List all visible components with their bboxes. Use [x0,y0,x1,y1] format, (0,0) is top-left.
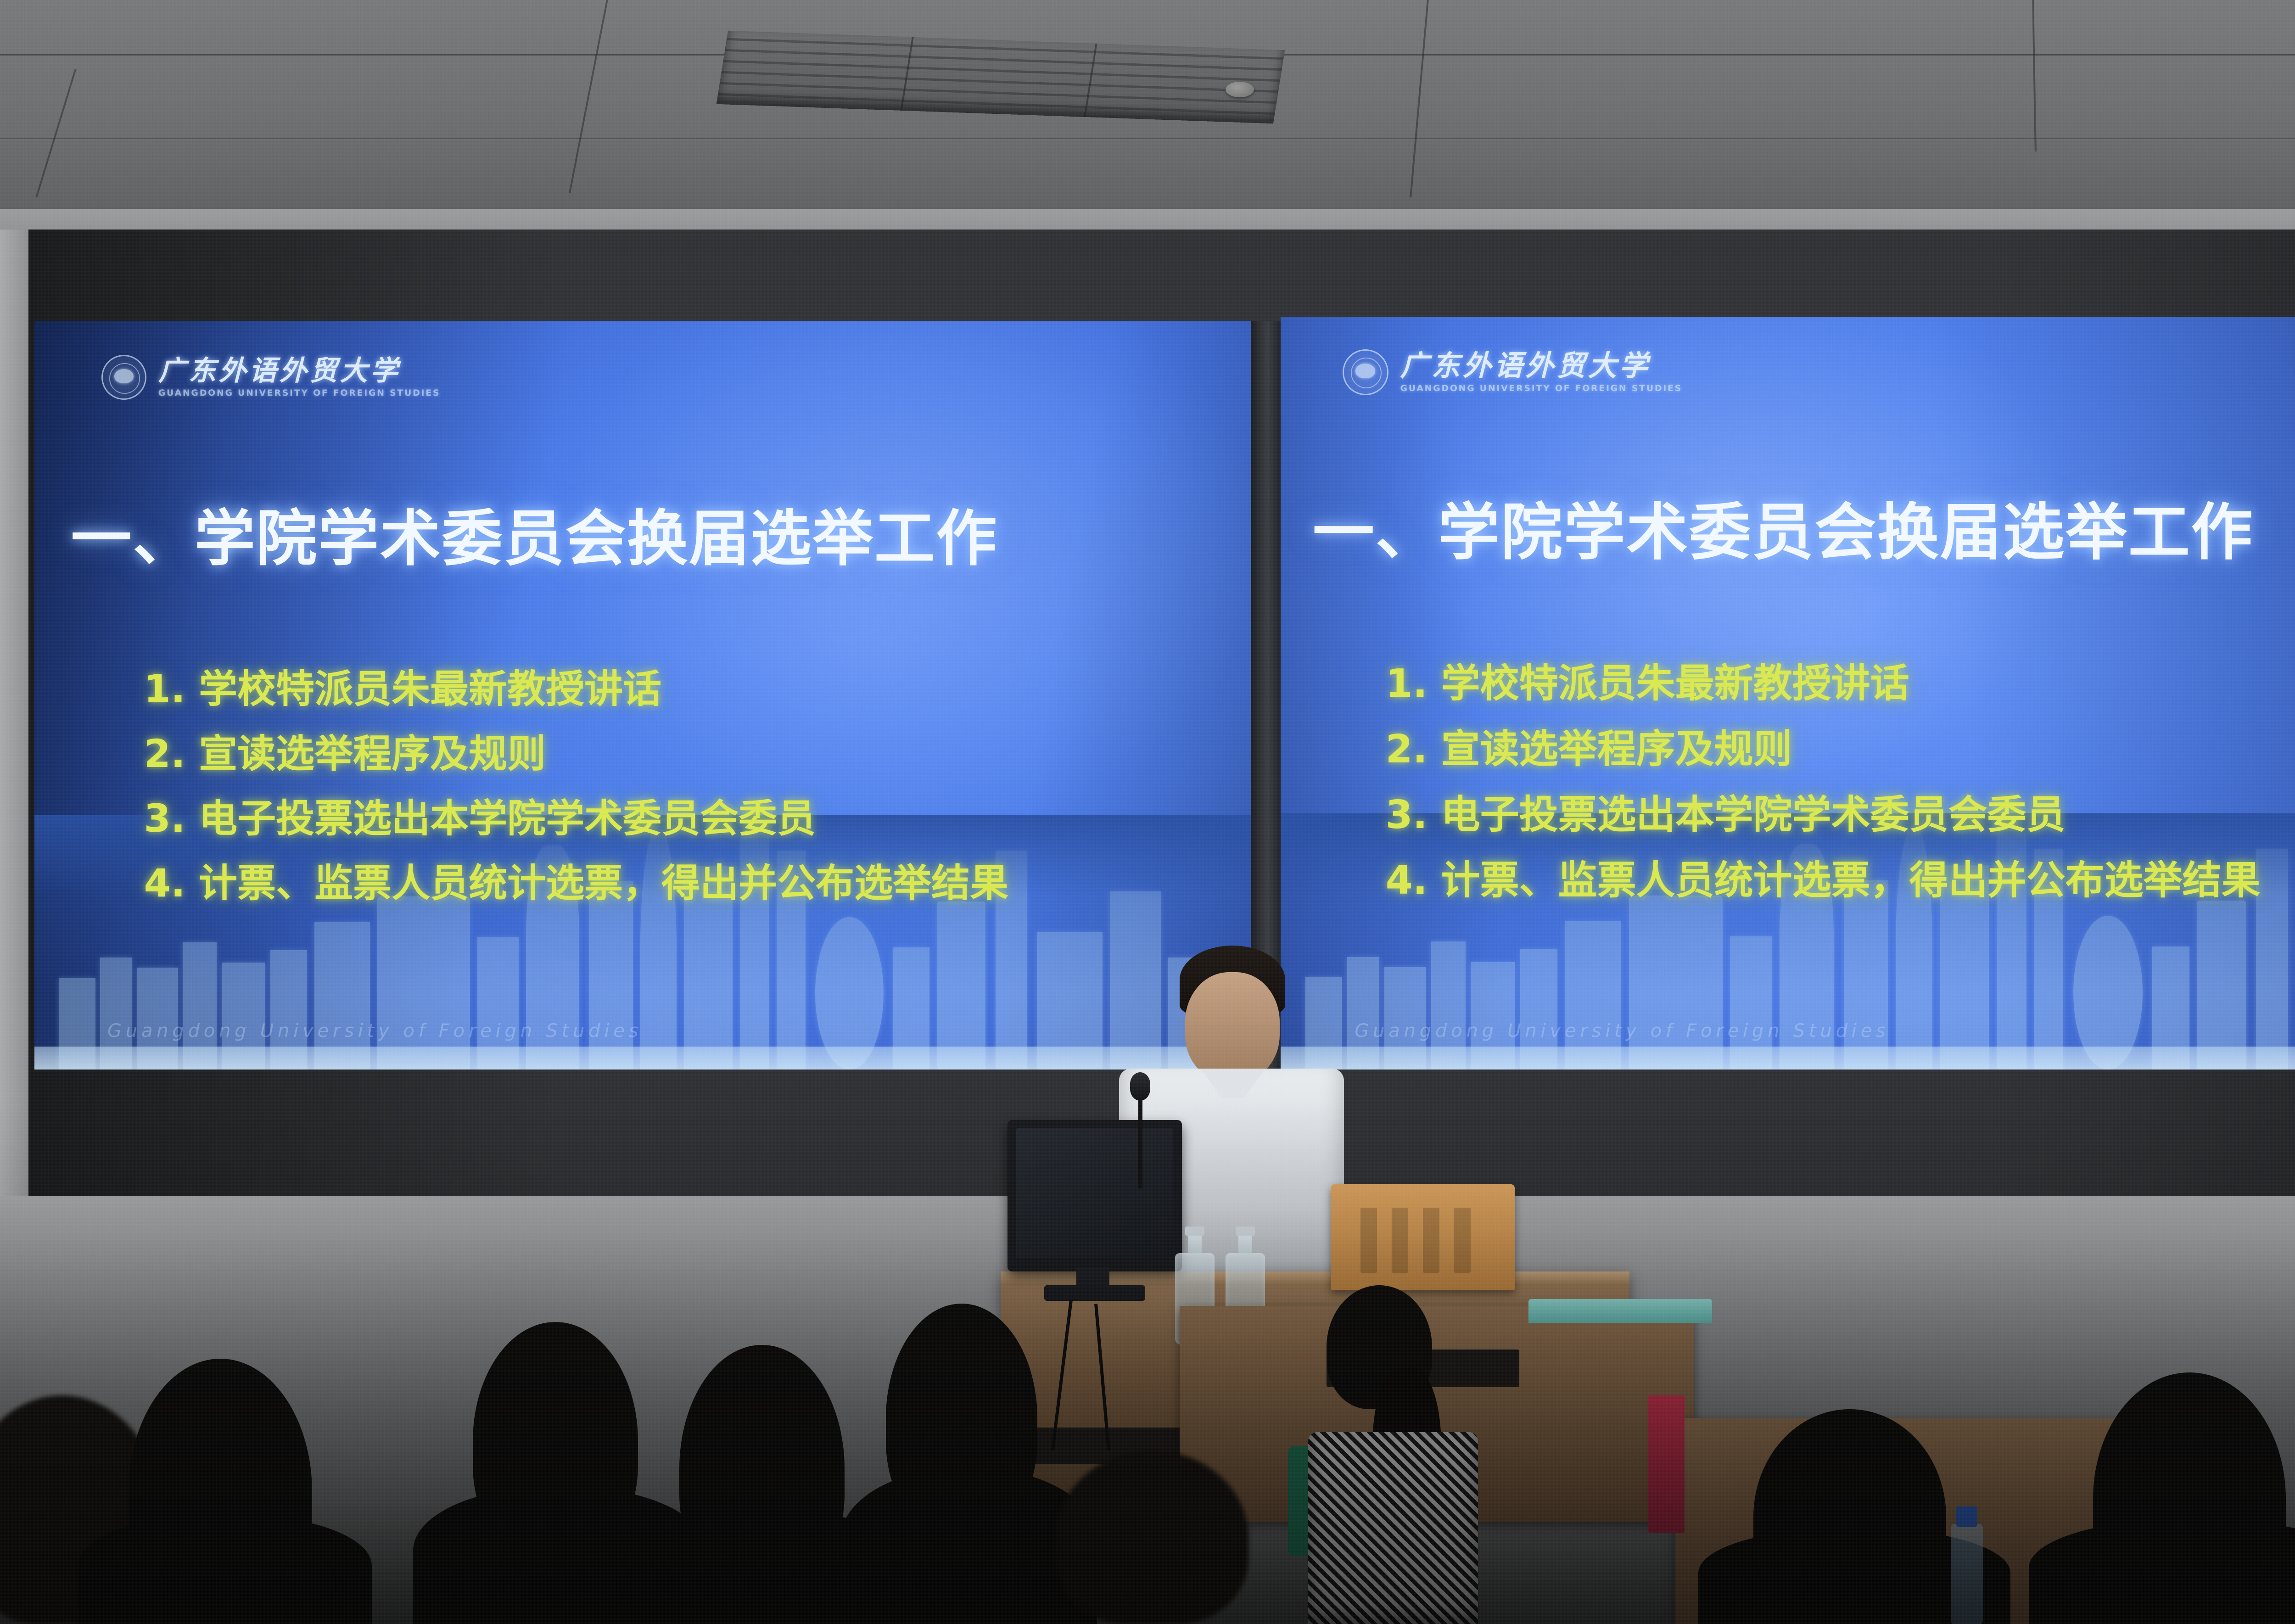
gooseneck-microphone-icon [1130,1072,1150,1101]
list-item: 4. 计票、监票人员统计选票，得出并公布选举结果 [144,852,1009,908]
university-crest-icon [101,355,146,400]
brand-name-cn: 广东外语外贸大学 [1400,352,1682,380]
slide-title: 一、学院学术委员会换届选举工作 [71,490,998,577]
slide-footer-script: Guangdong University of Foreign Studies [1355,1020,2295,1042]
lecture-hall-photo: Guangdong University of Foreign Studies … [0,0,2295,1624]
list-item: 3. 电子投票选出本学院学术委员会委员 [1386,783,2261,840]
presenter-head [1185,972,1280,1081]
list-item: 3. 电子投票选出本学院学术委员会委员 [144,788,1009,843]
brand-name-cn: 广东外语外贸大学 [158,357,440,385]
list-item: 2. 宣读选举程序及规则 [144,723,1009,778]
university-crest-icon [1343,349,1388,395]
slide-brand-logo: 广东外语外贸大学 GUANGDONG UNIVERSITY OF FOREIGN… [1343,349,1682,395]
microphone-stem [1138,1097,1142,1189]
brand-name-en: GUANGDONG UNIVERSITY OF FOREIGN STUDIES [158,389,440,398]
list-item: 2. 宣读选举程序及规则 [1386,717,2261,774]
seated-woman-patterned-top [1267,1285,1506,1624]
wooden-chair[interactable] [1331,1184,1515,1290]
ceiling [0,0,2295,216]
slide-bullet-list: 1. 学校特派员朱最新教授讲话 2. 宣读选举程序及规则 3. 电子投票选出本学… [1386,652,2261,905]
desktop-monitor[interactable] [1008,1120,1182,1271]
monitor-base [1044,1285,1145,1301]
slide-footer-script: Guangdong University of Foreign Studies [107,1020,1178,1042]
right-projection-screen[interactable]: Guangdong University of Foreign Studies … [1281,317,2295,1070]
audience-water-bottle [1951,1524,1983,1624]
list-item: 4. 计票、监票人员统计选票，得出并公布选举结果 [1386,849,2261,905]
left-projection-screen[interactable]: Guangdong University of Foreign Studies … [34,321,1251,1070]
desk-red-marker [1648,1395,1685,1533]
slide-bullet-list: 1. 学校特派员朱最新教授讲话 2. 宣读选举程序及规则 3. 电子投票选出本学… [144,658,1009,908]
slide-title: 一、学院学术委员会换届选举工作 [1313,482,2254,571]
list-item: 1. 学校特派员朱最新教授讲话 [1386,652,2261,708]
desk-teal-surface [1528,1299,1712,1323]
brand-name-en: GUANGDONG UNIVERSITY OF FOREIGN STUDIES [1400,384,1682,393]
smoke-detector-icon [1226,82,1254,97]
list-item: 1. 学校特派员朱最新教授讲话 [144,658,1009,714]
slide-brand-logo: 广东外语外贸大学 GUANGDONG UNIVERSITY OF FOREIGN… [101,355,440,400]
audience-water-bottle-cap [1956,1506,1977,1527]
woman-patterned-top [1308,1432,1478,1624]
left-wall-strip [0,230,28,1221]
air-vent-icon [716,31,1285,124]
